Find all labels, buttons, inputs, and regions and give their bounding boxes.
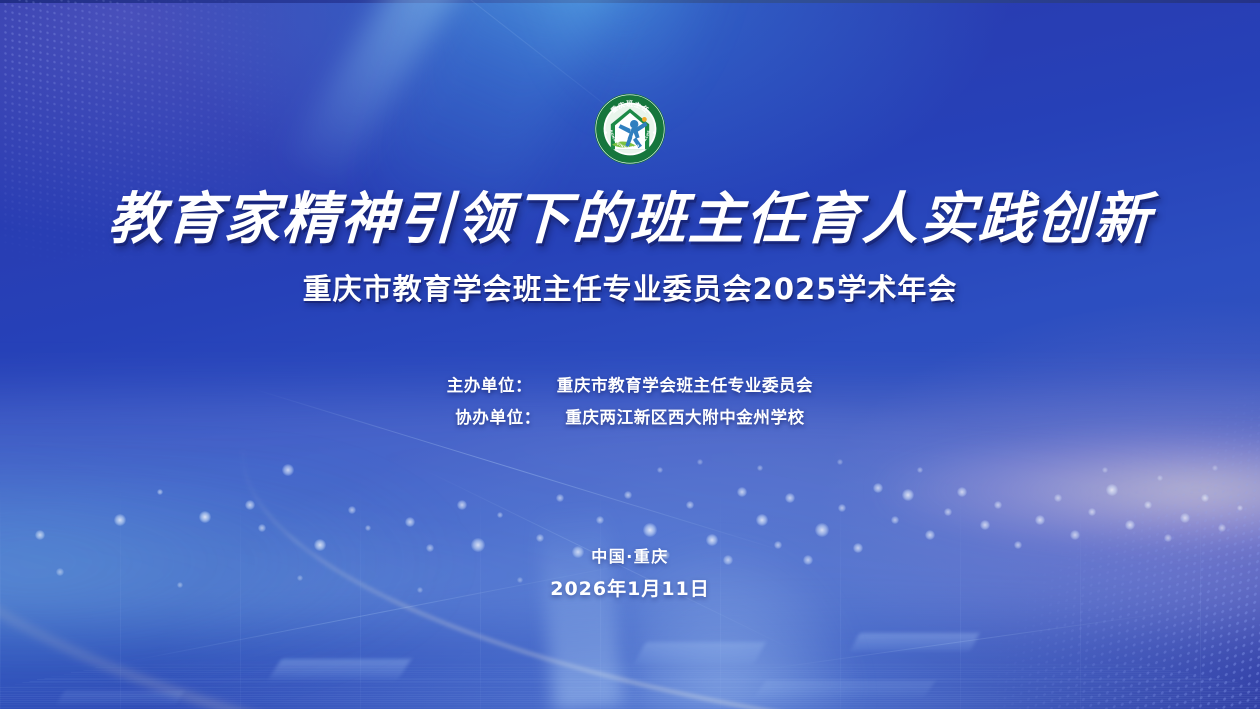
organizer-list: 主办单位： 重庆市教育学会班主任专业委员会 协办单位： 重庆两江新区西大附中金州…	[447, 372, 814, 428]
organizer-label: 协办单位：	[455, 404, 565, 428]
poster-content: 重庆班主任 CHONG QING HEAD TEACHER 教育家精神引领下的班…	[0, 0, 1260, 709]
organizer-value: 重庆两江新区西大附中金州学校	[565, 404, 804, 428]
organizer-label: 主办单位：	[447, 372, 557, 396]
event-footer: 中国·重庆 2026年1月11日	[550, 543, 710, 601]
page-subtitle: 重庆市教育学会班主任专业委员会2025学术年会	[303, 266, 958, 308]
organizer-row: 协办单位： 重庆两江新区西大附中金州学校	[447, 404, 814, 428]
event-location: 中国·重庆	[591, 543, 669, 567]
poster-stage: 重庆班主任 CHONG QING HEAD TEACHER 教育家精神引领下的班…	[0, 0, 1260, 709]
page-title: 教育家精神引领下的班主任育人实践创新	[107, 191, 1153, 248]
organizer-value: 重庆市教育学会班主任专业委员会	[557, 372, 814, 396]
organizer-row: 主办单位： 重庆市教育学会班主任专业委员会	[447, 372, 814, 396]
event-date: 2026年1月11日	[550, 574, 710, 601]
circular-emblem-icon: 重庆班主任 CHONG QING HEAD TEACHER	[594, 93, 666, 165]
organization-logo: 重庆班主任 CHONG QING HEAD TEACHER	[594, 93, 666, 165]
